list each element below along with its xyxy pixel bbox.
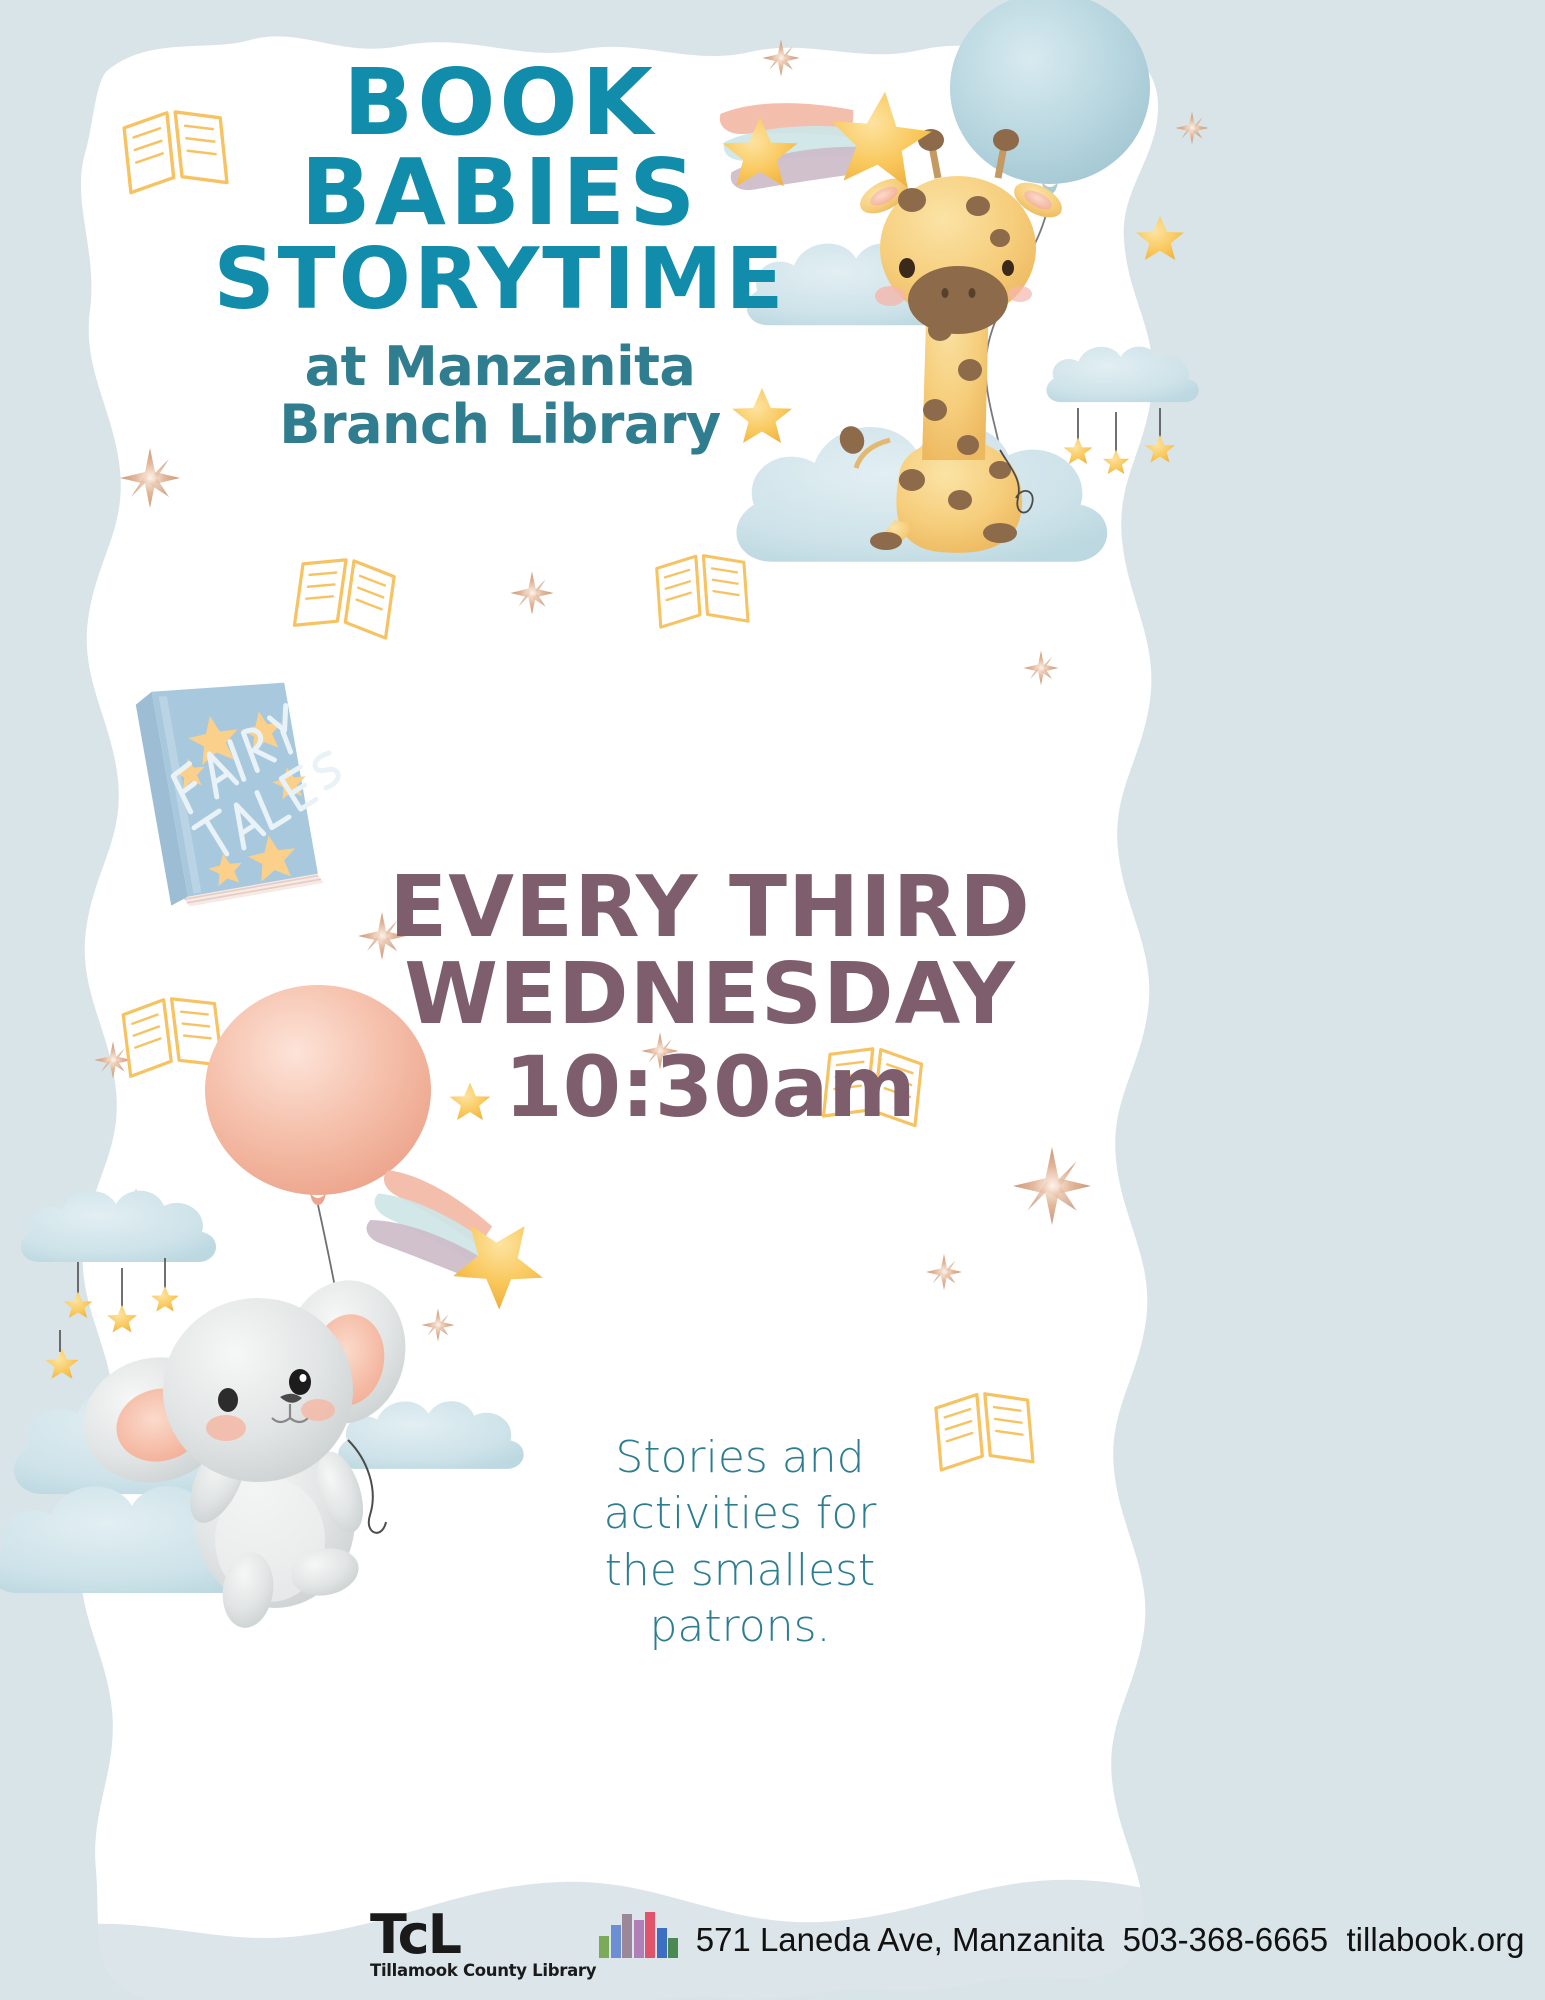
footer-contact-info: 571 Laneda Ave, Manzanita 503-368-6665 t…	[696, 1921, 1525, 1959]
hanging-stars-group	[1064, 408, 1175, 474]
title-line-3: STORYTIME	[120, 238, 880, 321]
subtitle-line-2: Branch Library	[120, 396, 880, 454]
footer-website: tillabook.org	[1346, 1921, 1524, 1958]
cloud-illustration	[1046, 347, 1198, 403]
blue-balloon-illustration	[950, 0, 1150, 450]
cloud-illustration	[21, 1191, 216, 1262]
description-line-4: patrons.	[560, 1599, 920, 1655]
sparkle-illustration	[1013, 1147, 1091, 1225]
sparkle-illustration	[422, 1309, 455, 1342]
cloud-illustration	[14, 1384, 317, 1494]
open-book-icon	[935, 1390, 1033, 1470]
mouse-illustration	[70, 1271, 416, 1631]
open-book-icon	[656, 553, 748, 627]
title-block: BOOK BABIES STORYTIME at Manzanita Branc…	[120, 58, 880, 454]
schedule-time: 10:30am	[330, 1038, 1090, 1137]
shooting-star-illustration	[353, 1160, 570, 1327]
description-line-3: the smallest	[560, 1543, 920, 1599]
sparkle-illustration	[120, 448, 180, 508]
description-line-1: Stories and	[560, 1430, 920, 1486]
footer-address: 571 Laneda Ave, Manzanita	[696, 1921, 1105, 1958]
footer-phone: 503-368-6665	[1123, 1921, 1329, 1958]
logo-mark: TcL	[370, 1912, 596, 1958]
schedule-line-2: WEDNESDAY	[330, 952, 1090, 1039]
sparkle-illustration	[1024, 651, 1059, 686]
sparkle-illustration	[94, 1041, 131, 1078]
poster-canvas: BOOK BABIES STORYTIME at Manzanita Branc…	[0, 0, 1545, 2000]
footer: TcL Tillamook County Library 571 Laneda …	[370, 1908, 1524, 1980]
open-book-icon	[122, 994, 222, 1077]
sparkle-illustration	[510, 571, 553, 614]
title-line-2: BABIES	[120, 148, 880, 238]
sparkle-illustration	[120, 1189, 153, 1222]
title-line-1: BOOK	[120, 58, 880, 148]
logo-books-icon	[599, 1908, 680, 1958]
logo-name: Tillamook County Library	[370, 1961, 596, 1980]
star-illustration	[1136, 216, 1184, 260]
description-block: Stories and activities for the smallest …	[560, 1430, 920, 1655]
cloud-illustration	[338, 1401, 523, 1469]
library-logo: TcL Tillamook County Library	[370, 1908, 680, 1980]
description-line-2: activities for	[560, 1486, 920, 1542]
hanging-stars-group	[46, 1258, 179, 1379]
cloud-illustration	[0, 1486, 282, 1593]
subtitle-block: at Manzanita Branch Library	[120, 338, 880, 455]
sparkle-illustration	[1176, 112, 1209, 145]
schedule-line-1: EVERY THIRD	[330, 865, 1090, 952]
schedule-block: EVERY THIRD WEDNESDAY 10:30am	[330, 865, 1090, 1137]
open-book-icon	[294, 554, 395, 638]
sparkle-illustration	[926, 1254, 962, 1290]
subtitle-line-1: at Manzanita	[120, 338, 880, 396]
